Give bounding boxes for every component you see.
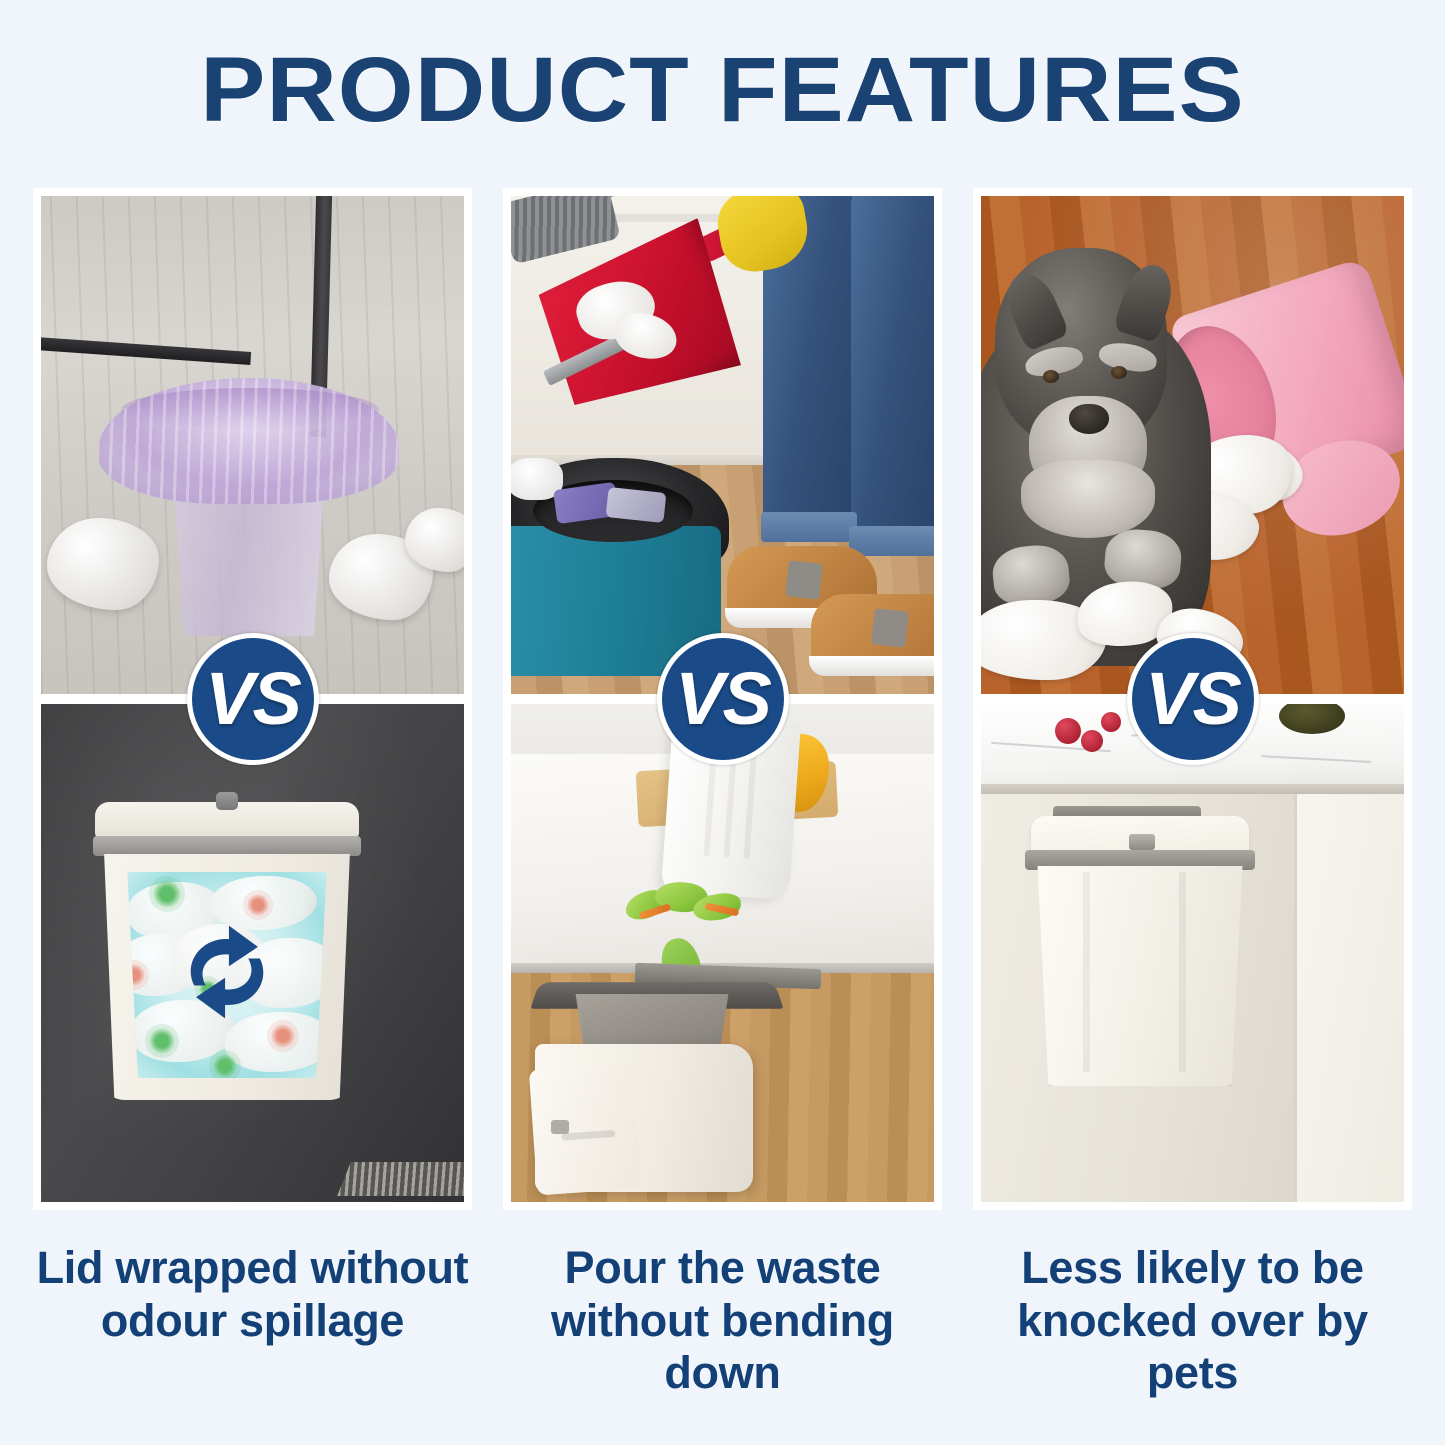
germ-icon bbox=[149, 1028, 175, 1054]
vs-badge: VS bbox=[1127, 633, 1259, 765]
vs-badge: VS bbox=[187, 633, 319, 765]
photo-purple-bag-bin-floor bbox=[41, 196, 464, 694]
jeans-cuff bbox=[849, 526, 934, 556]
jeans-cuff bbox=[761, 512, 857, 542]
dog-nose bbox=[1069, 404, 1109, 434]
cranberry bbox=[1055, 718, 1081, 744]
caption-pet-proof: Less likely to be knocked over by pets bbox=[973, 1242, 1412, 1400]
hanging-trash-bin bbox=[535, 980, 779, 1192]
cranberry bbox=[1101, 712, 1121, 732]
cutaway-window bbox=[121, 872, 333, 1078]
vs-badge: VS bbox=[657, 633, 789, 765]
caption-no-bending: Pour the waste without bending down bbox=[503, 1242, 942, 1400]
avocado bbox=[1279, 704, 1345, 734]
marble-vein bbox=[1261, 755, 1371, 763]
product-trash-can bbox=[93, 802, 361, 1102]
cranberry bbox=[1081, 730, 1103, 752]
dog-eye bbox=[1111, 366, 1127, 379]
dog-head bbox=[995, 248, 1167, 446]
feature-panel-pet-proof: VS bbox=[973, 188, 1412, 1210]
feature-panel-odour-spillage: VS bbox=[33, 188, 472, 1210]
bin-body bbox=[1031, 866, 1249, 1086]
germ-icon bbox=[247, 894, 269, 916]
can-lid bbox=[95, 802, 359, 838]
page-title: PRODUCT FEATURES bbox=[0, 44, 1445, 136]
dog-beard bbox=[1021, 460, 1155, 538]
floor-grate bbox=[337, 1162, 464, 1196]
scraper-rib bbox=[743, 749, 757, 859]
photo-counter-sweep-into-hanging-bin bbox=[511, 704, 934, 1202]
vs-label: VS bbox=[205, 662, 300, 736]
shoe-sole bbox=[809, 656, 934, 676]
germ-icon bbox=[213, 1054, 237, 1078]
shoe-strap bbox=[785, 560, 823, 599]
vs-label: VS bbox=[1145, 662, 1240, 736]
photo-hanging-bin-on-cabinet bbox=[981, 704, 1404, 1202]
lid-knob bbox=[216, 792, 238, 810]
odour-circulation-arrows-icon bbox=[169, 914, 285, 1030]
dog-eyebrow bbox=[1097, 339, 1159, 375]
caption-odour-spillage: Lid wrapped without odour spillage bbox=[33, 1242, 472, 1400]
bin-open-lid bbox=[529, 1063, 642, 1196]
photo-product-odour-lock bbox=[41, 704, 464, 1202]
can-rim bbox=[93, 836, 361, 856]
hanging-trash-bin bbox=[1025, 816, 1255, 1086]
photo-dustpan-into-floor-bin bbox=[511, 196, 934, 694]
shoe-strap bbox=[871, 608, 909, 647]
lid-latch bbox=[1129, 834, 1155, 850]
cabinet-door-right bbox=[1294, 794, 1404, 1202]
feature-panel-no-bending: VS bbox=[503, 188, 942, 1210]
caption-row: Lid wrapped without odour spillage Pour … bbox=[33, 1242, 1412, 1400]
feature-panel-grid: VS bbox=[33, 188, 1412, 1210]
lid-tab bbox=[551, 1120, 569, 1134]
dog-eye bbox=[1043, 370, 1059, 383]
vegetable-scraps bbox=[621, 880, 761, 928]
vs-label: VS bbox=[675, 662, 770, 736]
jeans-leg bbox=[851, 196, 934, 540]
germ-icon bbox=[153, 880, 181, 908]
waste-item bbox=[606, 487, 667, 523]
photo-dog-tipped-pink-bin bbox=[981, 196, 1404, 694]
